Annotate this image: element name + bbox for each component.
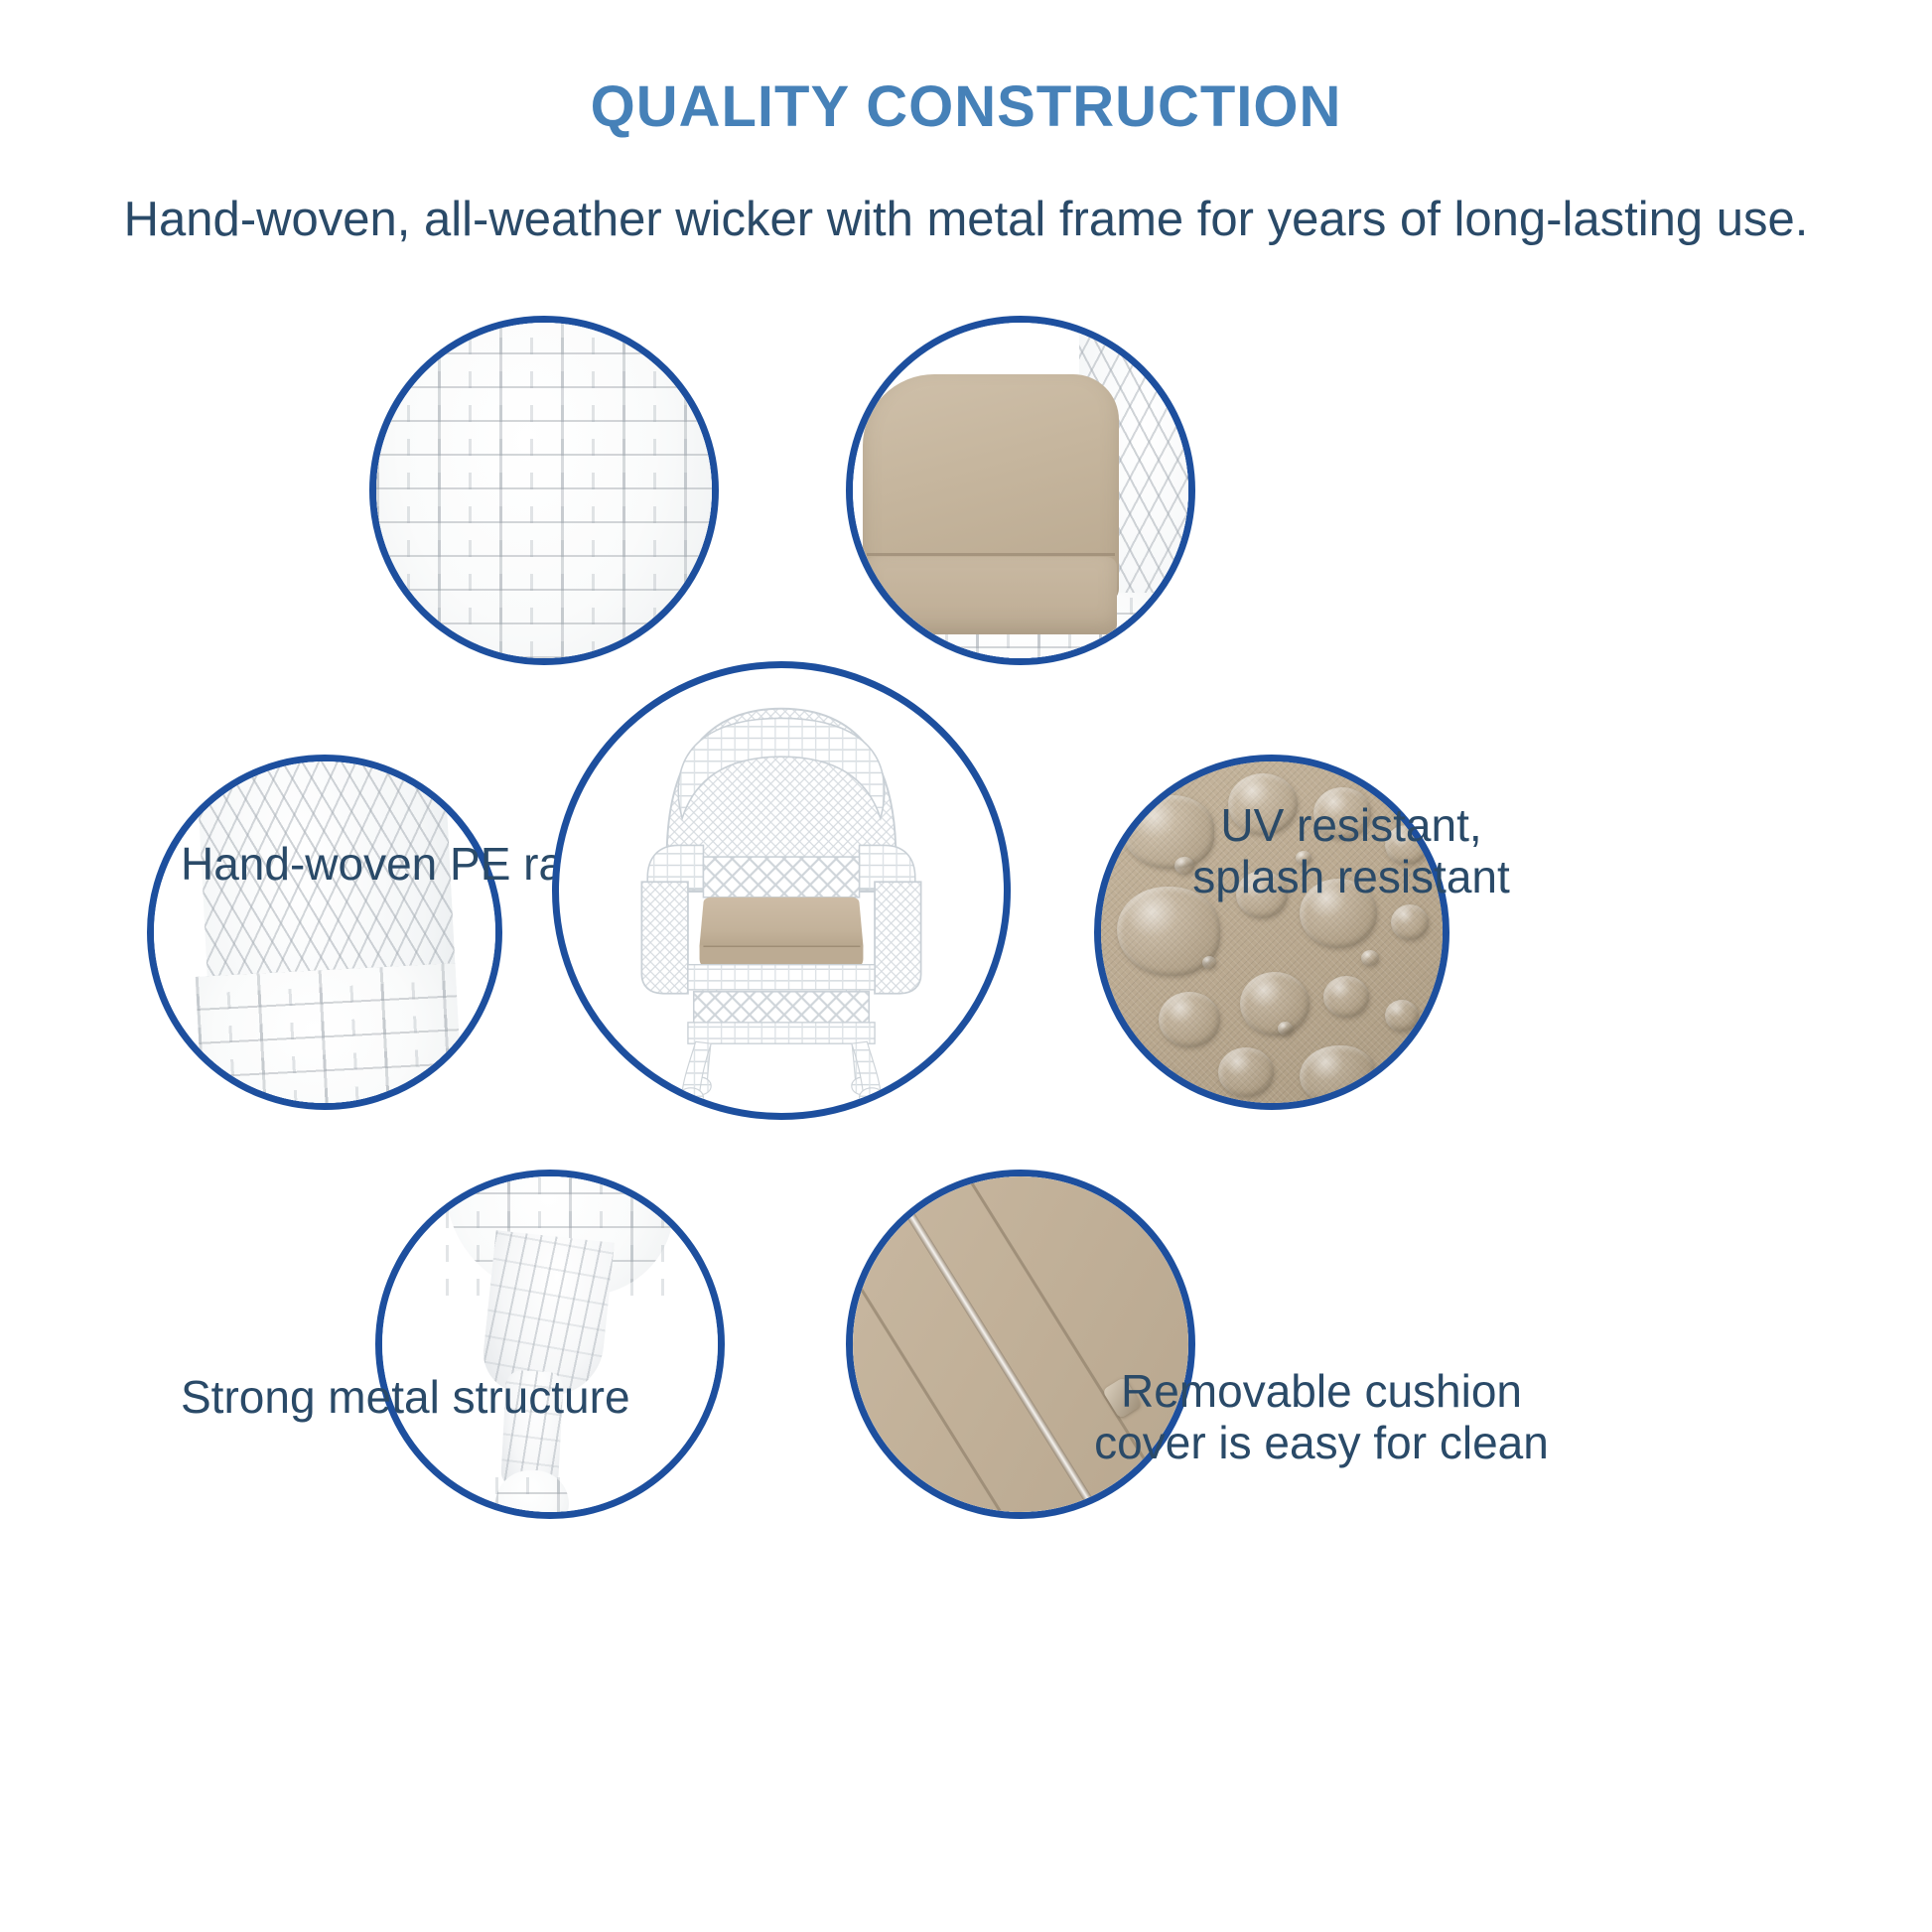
water-droplet <box>1391 904 1429 940</box>
label-removable-cushion-cover: Removable cushion cover is easy for clea… <box>1078 1366 1565 1469</box>
chair-corner-scene <box>154 761 495 1103</box>
feature-image-hand-woven-pe-rattan <box>369 316 719 665</box>
water-droplet <box>1278 1022 1293 1035</box>
feature-image-strong-metal-structure <box>147 755 502 1110</box>
chair-seat-frame <box>688 965 875 990</box>
leg-foot-cap <box>495 1470 569 1519</box>
chair-leg-scene <box>382 1176 718 1512</box>
chair-foot-front-left <box>678 1088 703 1107</box>
header: QUALITY CONSTRUCTION Hand-woven, all-wea… <box>0 0 1932 247</box>
cushion-seam-line <box>867 553 1115 556</box>
chair-side-weave <box>196 963 465 1110</box>
wicker-armchair-illustration <box>559 668 1004 1113</box>
page-subtitle: Hand-woven, all-weather wicker with meta… <box>0 194 1932 247</box>
chair-arm-left-side <box>641 882 688 993</box>
wicker-weave-texture <box>376 323 712 658</box>
cushion-corner-scene <box>853 323 1188 658</box>
water-droplet <box>1323 976 1369 1018</box>
infographic-page: QUALITY CONSTRUCTION Hand-woven, all-wea… <box>0 0 1932 1932</box>
water-droplet <box>1218 1047 1274 1097</box>
label-strong-metal-structure: Strong metal structure <box>181 1372 737 1424</box>
page-title: QUALITY CONSTRUCTION <box>0 77 1932 138</box>
water-droplet <box>1240 972 1310 1035</box>
water-droplet <box>1155 1067 1176 1087</box>
chair-skirt-rail <box>688 1023 875 1043</box>
feature-image-uv-splash-resistant <box>846 316 1195 665</box>
water-droplet <box>1300 1045 1375 1105</box>
water-droplet <box>1361 950 1379 966</box>
full-chair-scene <box>559 668 1004 1113</box>
feature-image-full-chair <box>552 661 1011 1120</box>
chair-back-lattice-band <box>703 857 859 897</box>
water-droplet <box>1159 992 1220 1047</box>
label-uv-splash-resistant: UV resistant, splash resistant <box>1128 800 1575 903</box>
chair-arm-right-side <box>875 882 921 993</box>
cushion-boxing-band <box>865 557 1117 634</box>
water-droplet <box>1385 1000 1419 1032</box>
chair-foot-front-right <box>860 1088 885 1107</box>
feature-image-chair-leg <box>375 1170 725 1519</box>
water-droplet <box>1202 956 1216 969</box>
chair-skirt-lattice <box>694 992 869 1025</box>
